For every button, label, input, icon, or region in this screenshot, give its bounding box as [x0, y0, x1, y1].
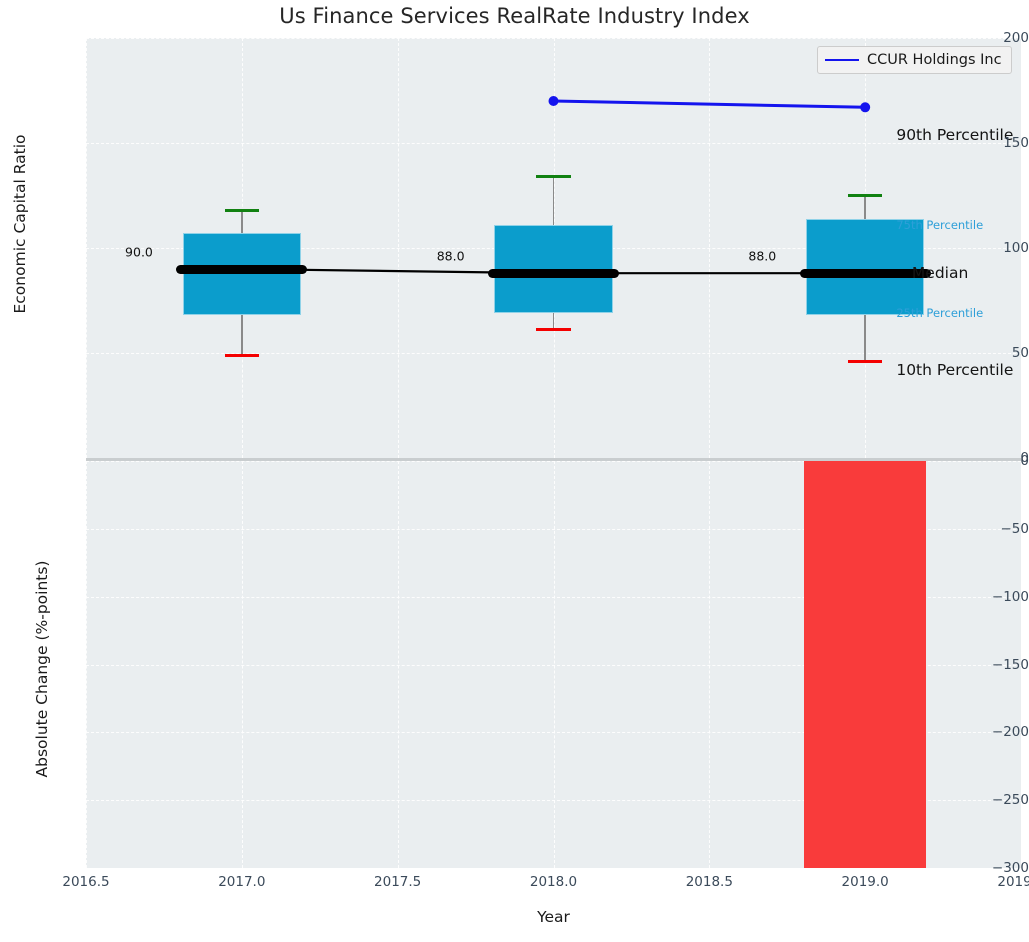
gridline-vertical: [554, 461, 555, 868]
x-axis-tick-label: 2019.0: [842, 874, 889, 890]
annotation-label: Median: [912, 264, 968, 282]
y-axis-tick-label: −250: [955, 792, 1029, 808]
y-axis-tick-label: −100: [955, 589, 1029, 605]
y-axis-tick-label: 150: [955, 135, 1029, 151]
legend-label: CCUR Holdings Inc: [867, 52, 1002, 68]
legend-line-swatch: [825, 59, 859, 61]
y-axis-tick-label: −50: [955, 521, 1029, 537]
annotation-label: 10th Percentile: [896, 361, 1013, 379]
series-marker: [549, 96, 559, 106]
plot-area-absolute-change: [86, 461, 1021, 868]
page-title: Us Finance Services RealRate Industry In…: [0, 4, 1029, 28]
x-axis-tick-label: 2017.0: [218, 874, 265, 890]
change-bar: [804, 461, 926, 868]
series-line: [554, 101, 866, 107]
legend[interactable]: CCUR Holdings Inc: [817, 46, 1012, 74]
y-axis-tick-label: 100: [955, 240, 1029, 256]
x-axis-tick-label: 2016.5: [62, 874, 109, 890]
y-axis-tick-label: 0: [955, 453, 1029, 469]
y-axis-tick-label: −150: [955, 657, 1029, 673]
x-axis-tick-label: 2018.0: [530, 874, 577, 890]
gridline-vertical: [709, 461, 710, 868]
x-axis-tick-label: 2019.5: [997, 874, 1029, 890]
x-axis-tick-label: 2017.5: [374, 874, 421, 890]
y-axis-label-top: Economic Capital Ratio: [11, 124, 29, 324]
annotation-label: 75th Percentile: [896, 218, 983, 232]
x-axis-label: Year: [86, 908, 1021, 926]
y-axis-label-bottom: Absolute Change (%-points): [33, 524, 51, 814]
y-axis-tick-label: 50: [955, 345, 1029, 361]
x-axis-tick-label: 2018.5: [686, 874, 733, 890]
plot-area-economic-capital-ratio: 90.088.088.0 90th Percentile75th Percent…: [86, 38, 1021, 458]
gridline-vertical: [242, 461, 243, 868]
annotation-label: 25th Percentile: [896, 306, 983, 320]
series-marker: [860, 102, 870, 112]
y-axis-tick-label: 200: [955, 30, 1029, 46]
company-series-line: [86, 38, 1021, 458]
gridline-vertical: [398, 461, 399, 868]
gridline-vertical: [86, 461, 87, 868]
y-axis-tick-label: −200: [955, 724, 1029, 740]
chart-figure: Us Finance Services RealRate Industry In…: [0, 0, 1029, 942]
